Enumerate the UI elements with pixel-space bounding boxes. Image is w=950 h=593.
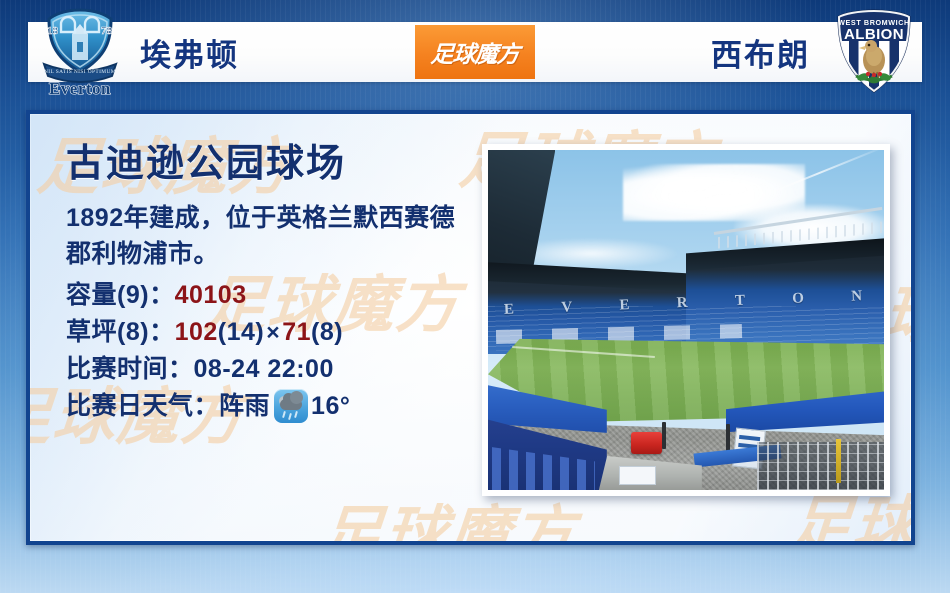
match-time-row: 比赛时间 ： 08-24 22:00	[66, 351, 496, 388]
match-weather-row: 比赛日天气 ： 阵雨 16°	[66, 388, 496, 425]
stadium-photo-frame[interactable]: E V E R T O N	[482, 144, 890, 496]
match-stadium-infographic: 埃弗顿 足球魔方 西布朗	[0, 0, 950, 593]
weather-temperature: 16°	[311, 388, 350, 425]
pitch-width: 71	[282, 314, 311, 351]
weather-condition: 阵雨	[219, 388, 270, 425]
match-time-colon: ：	[168, 351, 194, 388]
match-time-value: 08-24 22:00	[194, 351, 334, 388]
pitch-label: 草坪(8)	[66, 314, 149, 351]
pitch-width-rating: (8)	[311, 314, 343, 351]
everton-crest-icon[interactable]: NIL SATIS NISI OPTIMUM 18 78 Everton	[34, 4, 126, 100]
stadium-info-panel: 足球魔方 足球魔方 足球魔方 足球魔方 足球魔方 足球魔方 足球魔方 古迪逊公园…	[26, 110, 915, 545]
weather-colon: ：	[194, 388, 220, 425]
svg-text:ALBION: ALBION	[844, 26, 904, 43]
stadium-description: 1892年建成，位于英格兰默西赛德郡利物浦市。	[66, 200, 466, 273]
svg-text:NIL SATIS NISI OPTIMUM: NIL SATIS NISI OPTIMUM	[44, 69, 116, 75]
capacity-label: 容量(9)	[66, 277, 149, 314]
shower-rain-icon	[274, 389, 308, 423]
pitch-dimension-separator: ×	[264, 315, 282, 349]
header-content: 埃弗顿 足球魔方 西布朗	[28, 22, 922, 82]
west-bromwich-albion-crest-icon[interactable]: WEST BROMWICH ALBION	[830, 6, 918, 98]
pitch-length-rating: (14)	[218, 314, 264, 351]
svg-text:Everton: Everton	[49, 79, 111, 98]
stadium-info-column: 古迪逊公园球场 1892年建成，位于英格兰默西赛德郡利物浦市。 容量(9) ： …	[66, 144, 496, 425]
pitch-length: 102	[175, 314, 218, 351]
match-time-label: 比赛时间	[66, 351, 168, 388]
capacity-colon: ：	[149, 277, 175, 314]
pitch-colon: ：	[149, 314, 175, 351]
capacity-value: 40103	[175, 277, 247, 314]
away-team-name: 西布朗	[711, 30, 810, 75]
weather-label: 比赛日天气	[66, 388, 194, 425]
brand-logo[interactable]: 足球魔方	[415, 25, 535, 79]
home-team-name: 埃弗顿	[140, 30, 239, 75]
capacity-row: 容量(9) ： 40103	[66, 277, 496, 314]
brand-logo-text: 足球魔方	[430, 35, 520, 69]
svg-text:18: 18	[47, 25, 59, 37]
goodison-park-photo: E V E R T O N	[488, 150, 884, 490]
stadium-name: 古迪逊公园球场	[66, 144, 496, 186]
pitch-size-row: 草坪(8) ： 102 (14) × 71 (8)	[66, 314, 496, 351]
svg-text:78: 78	[101, 25, 113, 37]
